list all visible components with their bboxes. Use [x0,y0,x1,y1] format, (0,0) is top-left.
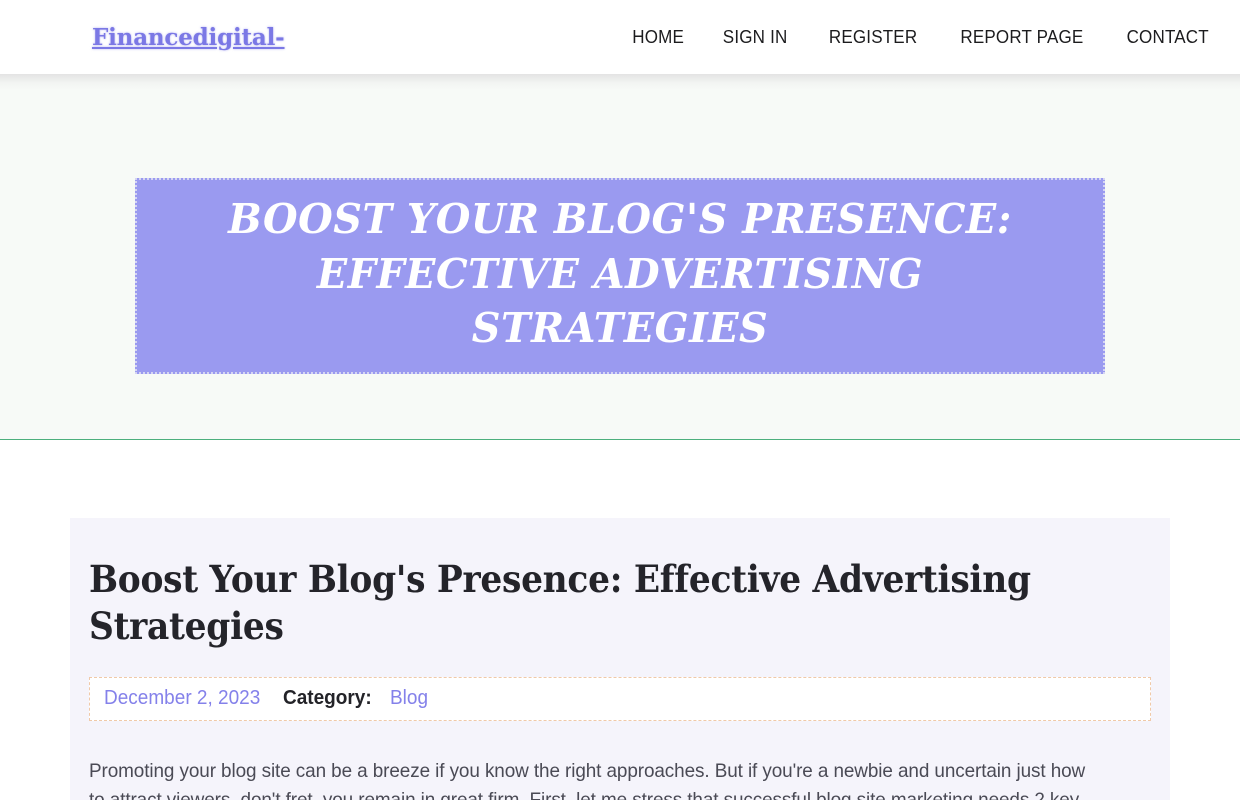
nav-item-home[interactable]: HOME [632,28,684,47]
article-date: December 2, 2023 [104,687,260,710]
main-content: Boost Your Blog's Presence: Effective Ad… [0,440,1240,800]
main-navigation: HOME SIGN IN REGISTER REPORT PAGE CONTAC… [630,28,1212,47]
brand-logo[interactable]: Financedigital- [92,26,285,49]
nav-item-contact[interactable]: CONTACT [1126,28,1208,47]
article-body-text: Promoting your blog site can be a breeze… [89,757,1088,800]
hero-banner: Boost Your Blog's Presence: Effective Ad… [135,178,1105,374]
article-card: Boost Your Blog's Presence: Effective Ad… [70,518,1170,800]
hero-title: Boost Your Blog's Presence: Effective Ad… [175,192,1065,356]
hero-section: Boost Your Blog's Presence: Effective Ad… [0,74,1240,440]
nav-item-register[interactable]: REGISTER [828,28,916,47]
article-meta-bar: December 2, 2023 Category: Blog [89,677,1151,721]
site-header: Financedigital- HOME SIGN IN REGISTER RE… [0,0,1240,74]
article-category-label: Category: [283,687,372,710]
article-title: Boost Your Blog's Presence: Effective Ad… [89,556,1075,649]
nav-item-report-page[interactable]: REPORT PAGE [960,28,1083,47]
nav-item-sign-in[interactable]: SIGN IN [723,28,788,47]
article-category-link[interactable]: Blog [390,687,428,710]
